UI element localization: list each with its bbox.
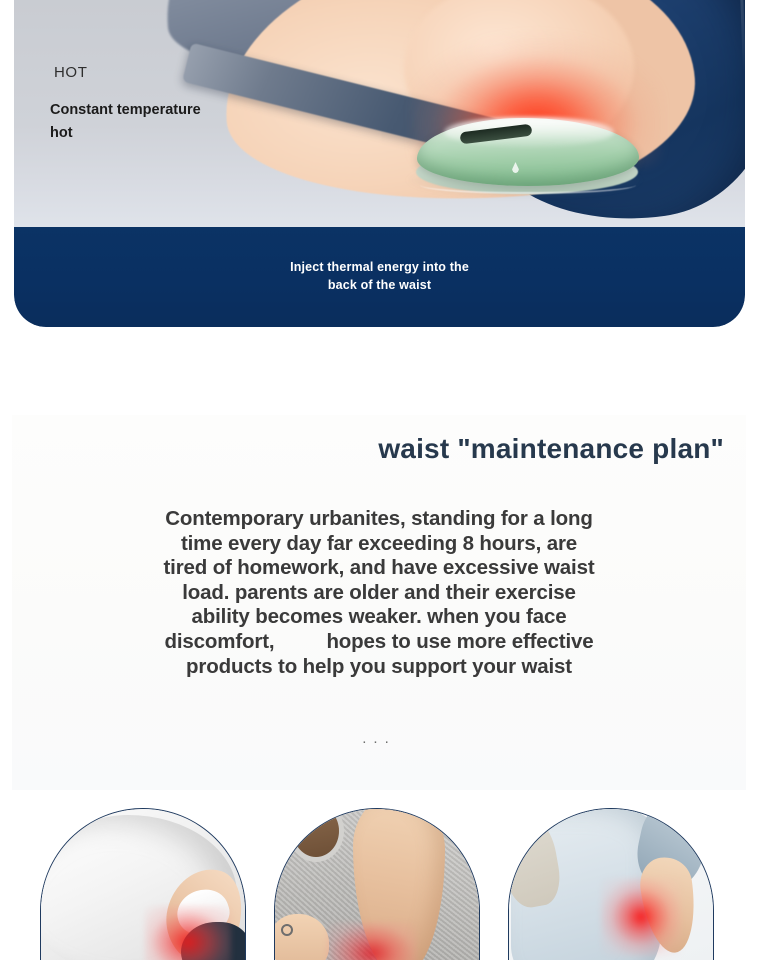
hot-kicker-label: HOT xyxy=(54,64,87,81)
hero-caption-text: Inject thermal energy into the back of t… xyxy=(290,259,469,295)
plan-line-4: load. parents are older and their exerci… xyxy=(182,581,576,604)
pain-glow-icon xyxy=(327,922,417,960)
plan-line-2: time every day far exceeding 8 hours, ar… xyxy=(181,532,577,555)
pain-gallery xyxy=(0,790,758,960)
pain-glow-icon xyxy=(601,878,681,956)
page-title: waist "maintenance plan" xyxy=(12,433,746,465)
plan-line-7: products to help you support your waist xyxy=(186,655,572,678)
photo-blue-shirt-back-pain xyxy=(509,809,713,960)
gallery-item-blue-shirt[interactable] xyxy=(508,808,714,960)
photo-white-tshirt-back-pain xyxy=(41,809,245,960)
plan-line-3: tired of homework, and have excessive wa… xyxy=(163,556,594,579)
garment-seam xyxy=(736,0,745,73)
hero-caption-line-2: back of the waist xyxy=(328,278,431,292)
plan-line-6-b: hopes to use more effective xyxy=(326,630,593,653)
plan-line-1: Contemporary urbanites, standing for a l… xyxy=(165,507,593,530)
device-rim xyxy=(420,176,636,194)
ellipsis-marker: ... xyxy=(12,730,746,747)
hero-card: HOT Constant temperature hot Inject ther… xyxy=(14,0,745,327)
hero-caption-band: Inject thermal energy into the back of t… xyxy=(14,227,745,327)
photo-grey-tank-back-pain xyxy=(275,809,479,960)
product-detail-page: HOT Constant temperature hot Inject ther… xyxy=(0,0,758,960)
hero-title: Constant temperature hot xyxy=(50,99,310,146)
plan-body-copy: Contemporary urbanites, standing for a l… xyxy=(12,507,746,679)
hero-caption-line-1: Inject thermal energy into the xyxy=(290,260,469,274)
ring-icon xyxy=(281,924,293,936)
hero-product-photo: HOT Constant temperature hot xyxy=(14,0,745,227)
maintenance-plan-section: waist "maintenance plan" Contemporary ur… xyxy=(12,415,746,790)
gallery-item-grey-tank[interactable] xyxy=(274,808,480,960)
plan-line-5: ability becomes weaker. when you face xyxy=(191,605,566,628)
gallery-item-white-tshirt[interactable] xyxy=(40,808,246,960)
plan-line-6-a: discomfort, xyxy=(164,630,274,653)
pain-glow-icon xyxy=(145,906,231,960)
